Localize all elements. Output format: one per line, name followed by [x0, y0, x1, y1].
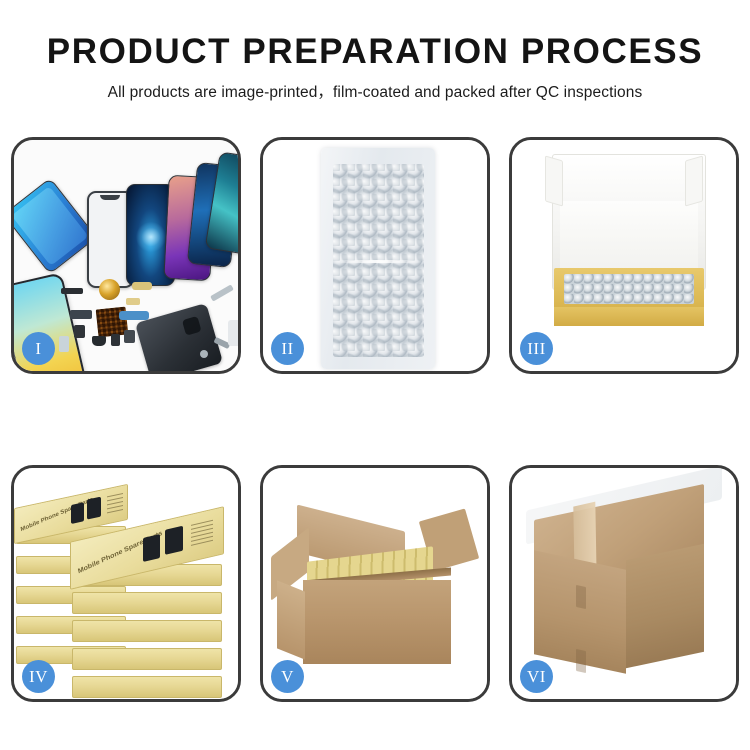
step-panel-3: III — [509, 137, 739, 374]
step-badge-5: V — [271, 660, 304, 693]
camera-module-part — [74, 325, 85, 338]
step-panel-2: II — [260, 137, 490, 374]
battery-part — [59, 336, 69, 352]
retail-box-front-2 — [72, 592, 222, 614]
page-header: PRODUCT PREPARATION PROCESS All products… — [0, 0, 750, 102]
step-panel-4: Mobile Phone Spare Parts Mobile Phone Sp… — [11, 465, 241, 702]
step-badge-3: III — [520, 332, 553, 365]
bubble-wrap-bag — [321, 148, 435, 369]
inner-box-tray — [554, 268, 704, 326]
inner-box-front-wall — [554, 307, 704, 326]
retail-box-text-lines-rear — [107, 493, 123, 516]
vibrator-part — [111, 334, 120, 346]
bubble-wrapped-contents — [564, 274, 694, 304]
blue-ribbon-part — [119, 311, 149, 320]
step-badge-4: IV — [22, 660, 55, 693]
retail-box-front-3 — [72, 620, 222, 642]
retail-box-phone-print-rear-2 — [87, 497, 101, 520]
carton-side-wall — [277, 580, 305, 659]
retail-box-front-4 — [72, 648, 222, 670]
step-panel-5: V — [260, 465, 490, 702]
carton-seam-lower — [576, 649, 586, 673]
white-component-part — [228, 320, 238, 346]
retail-box-phone-print-front-2 — [165, 526, 183, 555]
page-subtitle: All products are image-printed，film-coat… — [0, 80, 750, 102]
retail-box-front-5 — [72, 676, 222, 698]
flex-cable-part — [61, 288, 83, 294]
speaker-part — [92, 336, 106, 346]
carton-seam-upper — [576, 585, 586, 609]
step-panel-6: VI — [509, 465, 739, 702]
carton-front-wall — [303, 580, 451, 664]
inner-box-flap-left — [545, 155, 563, 206]
step-badge-2: II — [271, 332, 304, 365]
step-badge-1: I — [22, 332, 55, 365]
gold-connector-part — [132, 282, 152, 290]
tweezers-tool — [210, 284, 234, 301]
screw-part — [200, 350, 208, 358]
step-panel-1: I — [11, 137, 241, 374]
process-step-grid: I II III — [11, 137, 739, 702]
sealed-carton-side — [626, 544, 704, 669]
retail-box-phone-print-rear-1 — [71, 502, 84, 524]
retail-box-text-lines-front — [191, 520, 213, 549]
phone-screen-teal — [14, 178, 97, 275]
metal-shield-part — [70, 310, 92, 319]
step-badge-6: VI — [520, 660, 553, 693]
page-title: PRODUCT PREPARATION PROCESS — [0, 34, 750, 71]
bag-seam — [335, 260, 421, 263]
retail-box-phone-print-front-1 — [143, 534, 160, 562]
inner-box-flap-right — [685, 155, 703, 206]
speaker-coil-part — [99, 279, 120, 300]
sim-tray-part — [124, 330, 135, 343]
gold-bracket-part — [126, 298, 140, 305]
